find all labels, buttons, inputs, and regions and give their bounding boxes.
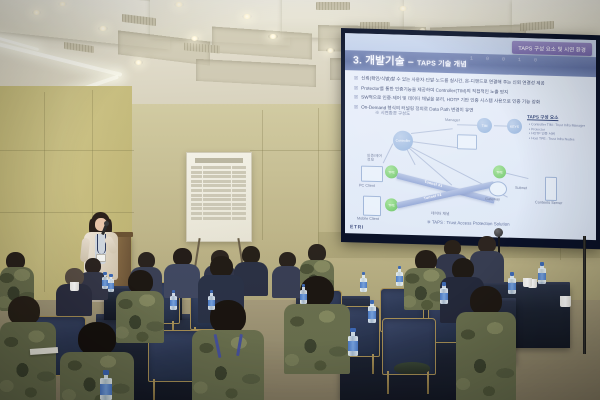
slide-title-dash: – — [408, 56, 414, 68]
bottle-label — [368, 311, 376, 319]
slide-section-tab: TAPS 구성 요소 및 시연 환경 — [512, 41, 592, 56]
ceiling-downlight — [174, 2, 184, 7]
ceiling-downlight — [32, 10, 41, 15]
slide-title-number: 3. — [353, 54, 362, 66]
diagram-protector-box — [457, 134, 477, 150]
diagram-node-gw-tpe: TPE — [493, 165, 506, 178]
diagram-caption: ※ 시연환경 구성도 — [375, 110, 410, 117]
poster-row — [191, 203, 247, 206]
ceiling-downlight — [98, 26, 108, 31]
water-bottle — [102, 272, 108, 289]
bottle-cap — [103, 370, 110, 375]
bottle-neck — [540, 265, 543, 269]
conference-room-photo: TAPS 구성 요소 및 시연 환경 3. 개발기술 – TAPS 기술 개념 … — [0, 0, 600, 400]
wall-panel-seam — [44, 92, 45, 292]
bottle-label — [348, 341, 358, 351]
diagram-label-subnet: Subnet — [515, 186, 527, 190]
bottle-neck — [104, 274, 106, 277]
poster-row — [191, 212, 247, 215]
slide-title: 3. 개발기술 – TAPS 기술 개념 — [353, 50, 467, 73]
poster-row — [191, 171, 247, 174]
water-bottle — [396, 266, 403, 286]
attendee-head — [78, 322, 116, 356]
bottle-cap — [350, 328, 356, 332]
attendee — [192, 300, 264, 400]
bottle-neck — [351, 332, 355, 336]
banquet-chair — [382, 318, 434, 394]
chair-leg — [387, 371, 389, 394]
poster-row — [191, 166, 247, 169]
attendee-head — [210, 300, 246, 334]
water-bottle — [170, 290, 177, 310]
ceiling-downlight — [190, 36, 199, 41]
poster-row — [191, 180, 247, 183]
diagram-edge — [457, 124, 477, 125]
poster-title-bar — [195, 158, 243, 163]
bottle-label — [300, 294, 307, 301]
bottle-neck — [104, 374, 109, 379]
bottle-label — [538, 273, 546, 280]
bottle-label — [360, 282, 367, 289]
attendee — [456, 286, 516, 400]
binary-decoration: 1 0 0 1 0 — [470, 56, 580, 81]
bottle-label — [102, 280, 108, 286]
tunnel-2-label: Tunnel #2 — [424, 193, 443, 201]
water-bottle — [300, 284, 307, 304]
paper-cup — [560, 296, 571, 307]
bottle-neck — [442, 285, 445, 289]
diagram-label-mobile-client: Mobile Client — [357, 216, 379, 221]
screen-support-pole — [583, 236, 586, 354]
poster-row — [191, 184, 247, 187]
water-bottle — [348, 328, 358, 356]
etri-logo: ETRI — [350, 224, 364, 230]
bottle-neck — [398, 269, 401, 272]
diagram-edge — [494, 125, 508, 126]
diagram-pc-monitor-icon — [361, 166, 383, 183]
bottle-cap — [103, 272, 106, 275]
ceiling-downlight — [398, 6, 408, 11]
diagram-label-auth-control: 인증/제어정보 — [367, 154, 382, 162]
slide-title-sub: TAPS 기술 개념 — [417, 60, 467, 68]
water-bottle — [440, 282, 448, 304]
diagram-server-icon — [545, 177, 557, 201]
bottle-cap — [442, 282, 446, 286]
diagram-node-controller: Controller — [393, 130, 413, 151]
projection-screen: TAPS 구성 요소 및 시연 환경 3. 개발기술 – TAPS 기술 개념 … — [341, 28, 600, 249]
ceiling-downlight — [326, 48, 335, 53]
poster-row — [191, 207, 247, 210]
water-bottle — [208, 290, 215, 310]
attendee — [284, 276, 350, 372]
diagram-legend-title: TAPS 구성 요소 — [527, 114, 558, 121]
ceiling-downlight — [134, 60, 143, 65]
attendee-uniform — [60, 352, 134, 400]
checkbox-bullet-icon: ☒ — [354, 74, 358, 82]
diagram-edge — [383, 144, 393, 164]
water-bottle — [508, 272, 516, 294]
checkbox-bullet-icon: ☒ — [354, 84, 358, 92]
network-diagram: ※ 시연환경 구성도 TAPS 구성 요소 • Controller TIM :… — [349, 109, 592, 232]
ceiling-downlight — [268, 34, 278, 39]
attendee-uniform — [284, 304, 350, 374]
poster-row — [191, 198, 247, 201]
microphone-head-icon — [104, 221, 109, 226]
wall-panel-seam — [0, 150, 134, 151]
tunnel-1-label: Tunnel #1 — [424, 180, 443, 188]
poster-schedule-grid — [191, 166, 247, 236]
diagram-node-keys: KEYS — [507, 119, 522, 134]
poster-row — [191, 175, 247, 178]
water-bottle — [100, 370, 112, 400]
bottle-label — [208, 300, 215, 307]
presentation-slide: TAPS 구성 요소 및 시연 환경 3. 개발기술 – TAPS 기술 개념 … — [345, 33, 596, 240]
bottle-label — [508, 283, 516, 290]
bottle-neck — [172, 293, 175, 296]
water-bottle — [108, 274, 114, 292]
poster-row — [191, 217, 247, 220]
checkbox-bullet-icon: ☒ — [354, 93, 358, 101]
attendee — [56, 268, 92, 314]
chair-leg — [372, 354, 374, 374]
bottle-neck — [370, 303, 373, 307]
program-poster — [186, 152, 252, 242]
attendee — [60, 322, 134, 400]
bottle-label — [396, 276, 403, 283]
wall-panel-seam — [318, 108, 319, 248]
water-bottle — [368, 300, 376, 323]
diagram-mobile-icon — [363, 196, 381, 217]
ceiling-downlight — [58, 2, 67, 6]
diagram-label-pc-client: PC Client — [359, 184, 375, 188]
ceiling-downlight — [242, 14, 252, 19]
slide-title-main: 개발기술 — [365, 55, 404, 68]
water-bottle — [360, 272, 367, 292]
poster-row — [191, 194, 247, 197]
legend-item: • Host TPE : Trust Infra Nodes — [529, 136, 585, 142]
bottle-cap — [540, 262, 544, 266]
beret-on-table — [394, 362, 430, 374]
bottle-cap — [510, 272, 514, 276]
chair-leg — [153, 379, 155, 400]
poster-row — [191, 189, 247, 192]
bottle-label — [170, 300, 177, 307]
bottle-neck — [362, 275, 365, 278]
attendee-uniform — [456, 312, 516, 400]
diagram-label-data-path: 데이터 채널 — [431, 212, 450, 218]
paper-cup — [70, 282, 79, 291]
bottle-neck — [210, 293, 213, 296]
bottle-neck — [302, 287, 305, 290]
diagram-label-gateway: Gateway — [485, 197, 500, 201]
diagram-legend-list: • Controller TIM : Trust Infra Manager •… — [529, 122, 585, 142]
bottle-label — [100, 384, 112, 394]
paper-cup — [523, 278, 532, 287]
attendee-uniform — [192, 330, 264, 400]
bottle-neck — [510, 275, 513, 279]
chair-leg — [427, 371, 429, 394]
water-bottle — [538, 262, 546, 284]
diagram-label-manager: Manager — [445, 118, 460, 122]
diagram-label-contents-server: Contents Server — [535, 200, 562, 205]
bottle-cap — [109, 274, 112, 277]
bottle-neck — [110, 277, 112, 280]
bottle-cap — [370, 300, 374, 304]
bottle-label — [440, 293, 448, 300]
diagram-node-tim: TIM — [477, 118, 492, 133]
ceiling-vent — [316, 2, 350, 10]
diagram-footnote: ※ TAPS : Trust Access Protection Solutio… — [427, 219, 510, 227]
bottle-label — [108, 283, 114, 289]
diagram-edge — [411, 128, 453, 133]
attendee-uniform — [0, 322, 56, 400]
diagram-gateway-icon — [489, 181, 507, 197]
wall-panel-seam — [262, 110, 263, 240]
